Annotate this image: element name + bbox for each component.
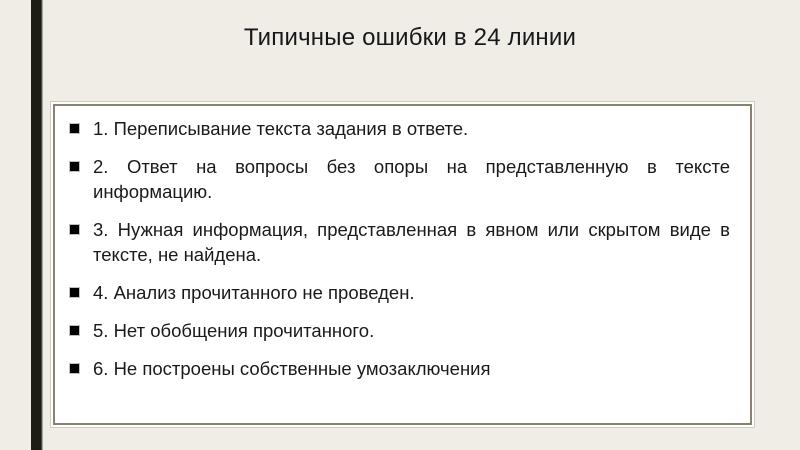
list-item-text: 5. Нет обобщения прочитанного. — [93, 318, 730, 343]
list-item-text: 6. Не построены собственные умозаключени… — [93, 356, 730, 381]
square-bullet-icon — [70, 326, 79, 335]
presentation-slide: Типичные ошибки в 24 линии 1. Переписыва… — [0, 0, 800, 450]
list-item-text: 1. Переписывание текста задания в ответе… — [93, 116, 730, 141]
content-frame: 1. Переписывание текста задания в ответе… — [50, 101, 755, 428]
square-bullet-icon — [70, 288, 79, 297]
square-bullet-icon — [70, 162, 79, 171]
list-item: 2. Ответ на вопросы без опоры на предста… — [63, 154, 736, 204]
list-item-text: 4. Анализ прочитанного не проведен. — [93, 280, 730, 305]
slide-title: Типичные ошибки в 24 линии — [60, 24, 760, 52]
list-item-text: 2. Ответ на вопросы без опоры на предста… — [93, 154, 730, 204]
list-item-text: 3. Нужная информация, представленная в я… — [93, 217, 730, 267]
square-bullet-icon — [70, 225, 79, 234]
list-item: 1. Переписывание текста задания в ответе… — [63, 116, 736, 141]
content-frame-inner: 1. Переписывание текста задания в ответе… — [53, 104, 752, 425]
list-item: 5. Нет обобщения прочитанного. — [63, 318, 736, 343]
bullet-list: 1. Переписывание текста задания в ответе… — [63, 116, 736, 381]
square-bullet-icon — [70, 124, 79, 133]
left-accent-bar-highlight — [41, 0, 43, 450]
list-item: 3. Нужная информация, представленная в я… — [63, 217, 736, 267]
list-item: 6. Не построены собственные умозаключени… — [63, 356, 736, 381]
list-item: 4. Анализ прочитанного не проведен. — [63, 280, 736, 305]
square-bullet-icon — [70, 364, 79, 373]
